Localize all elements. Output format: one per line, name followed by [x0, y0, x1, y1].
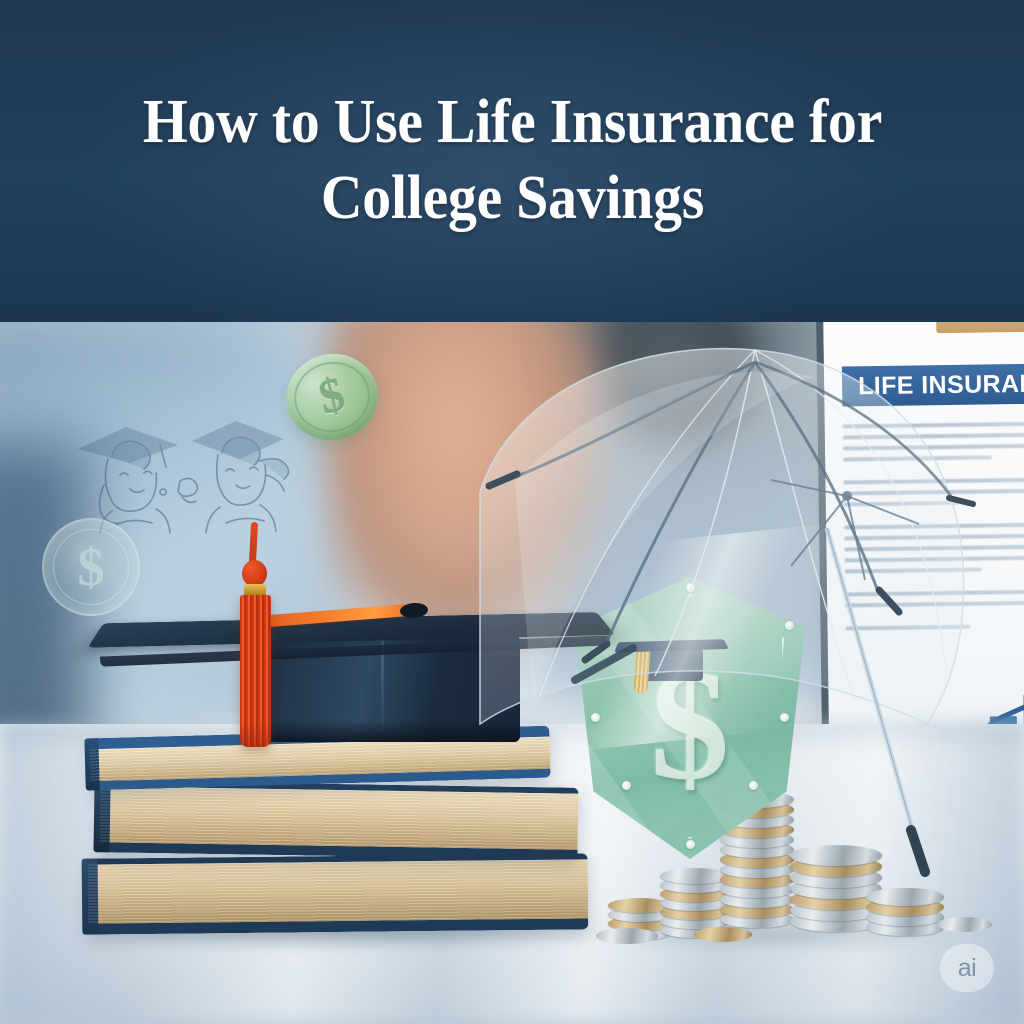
- book-bottom: [88, 853, 589, 934]
- graduation-cap-tassel: [234, 522, 280, 752]
- loose-coin-c: [694, 927, 752, 942]
- shield-cap-crown: [645, 647, 703, 681]
- page-title-line-2: College Savings: [320, 164, 703, 232]
- coin-stack-right: [866, 878, 944, 936]
- shield-cap-board: [614, 639, 729, 652]
- document-banner: LIFE INSURANCE: [842, 363, 1024, 406]
- ai-watermark-text: ai: [958, 956, 976, 981]
- book-spine: [93, 780, 110, 852]
- shield-rivet: [686, 840, 695, 849]
- clipboard-clip-icon: [936, 322, 1024, 333]
- shield-rivet: [785, 621, 794, 630]
- tassel-skirt: [240, 595, 271, 747]
- header-band: How to Use Life Insurance for College Sa…: [0, 0, 1024, 322]
- tassel-cord: [249, 522, 258, 564]
- graduation-cap: [100, 572, 610, 742]
- tassel-knot: [242, 560, 267, 587]
- green-coin-dollar-symbol: $: [315, 371, 350, 423]
- book-middle: [99, 780, 578, 859]
- book-spine: [84, 738, 99, 790]
- page-title-line-1: How to Use Life Insurance for: [142, 88, 881, 156]
- hero-photo: LIFE INSURANCE: [0, 322, 1024, 1024]
- poster-canvas: How to Use Life Insurance for College Sa…: [0, 0, 1024, 1024]
- book-spine: [82, 859, 99, 935]
- shield-graduation-cap-icon: [617, 629, 727, 691]
- page-title: How to Use Life Insurance for College Sa…: [109, 85, 915, 236]
- document-banner-title: LIFE INSURANCE: [858, 369, 1024, 401]
- document-body-text: [843, 421, 1024, 637]
- shield-rivet: [686, 583, 695, 592]
- ai-watermark-logo: ai: [940, 944, 994, 992]
- loose-coin-b: [938, 917, 992, 932]
- shield-cap-tassel: [633, 647, 650, 694]
